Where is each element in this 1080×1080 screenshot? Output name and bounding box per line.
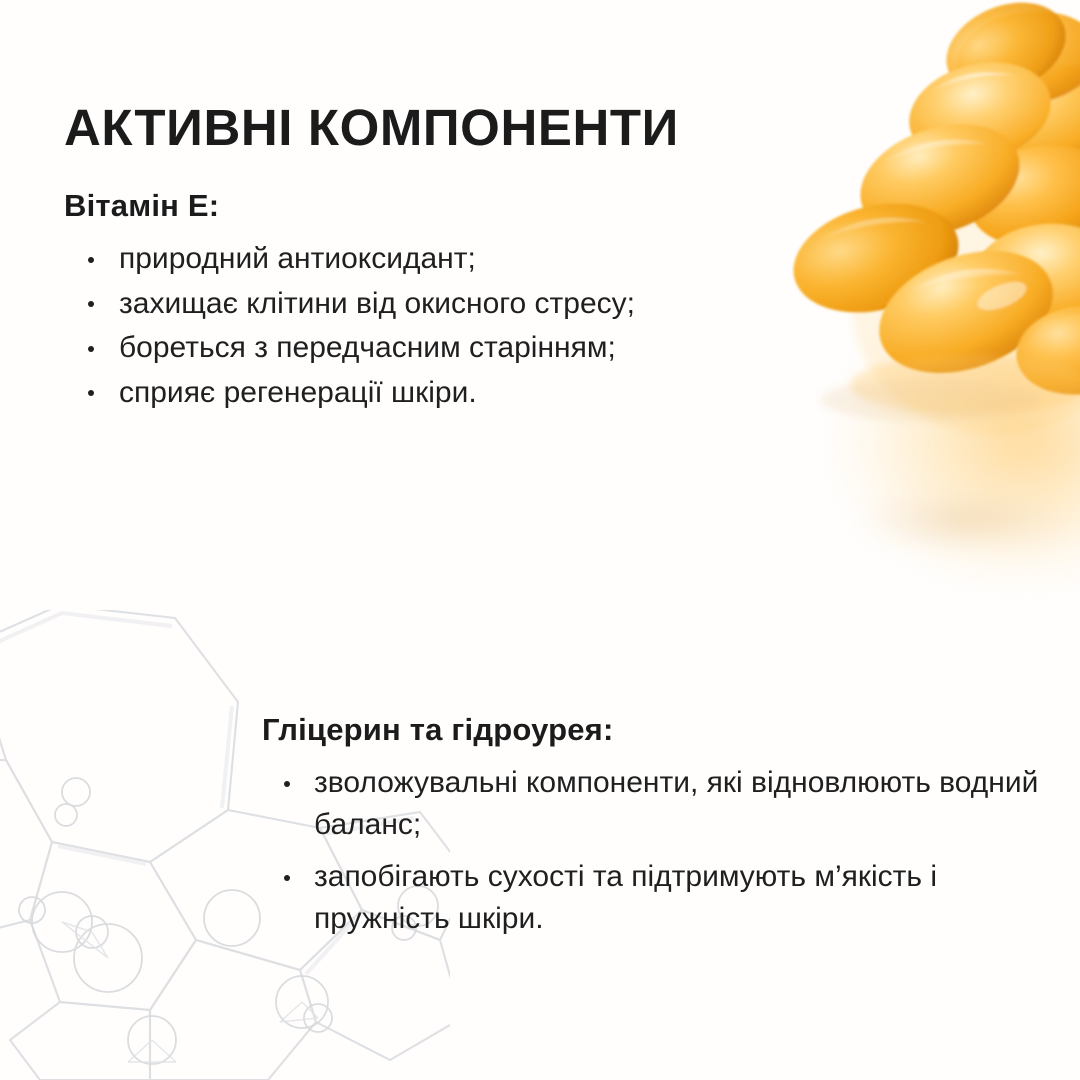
list-item: сприяє регенерації шкіри.	[64, 372, 894, 415]
list-item-label: сприяє регенерації шкіри.	[119, 376, 477, 409]
list-item: бореться з передчасним старінням;	[64, 327, 894, 370]
list-item: зволожувальні компоненти, які відновлюют…	[262, 762, 1052, 846]
slide-root: АКТИВНІ КОМПОНЕНТИ Вітамін Е: природний …	[0, 0, 1080, 1080]
bullet-list-glycerin-hydrourea: зволожувальні компоненти, які відновлюют…	[262, 762, 1052, 940]
bullet-dot-icon	[88, 346, 94, 352]
capsule-shadow	[780, 470, 1080, 590]
section-heading-glycerin-hydrourea: Гліцерин та гідроурея:	[262, 712, 1052, 748]
bullet-dot-icon	[88, 301, 94, 307]
list-item: природний антиоксидант;	[64, 238, 894, 281]
list-item: захищає клітини від окисного стресу;	[64, 283, 894, 326]
bullet-dot-icon	[88, 390, 94, 396]
section-heading-vitamin-e: Вітамін Е:	[64, 188, 894, 224]
bullet-list-vitamin-e: природний антиоксидант; захищає клітини …	[64, 238, 894, 414]
bullet-dot-icon	[88, 257, 94, 263]
section-glycerin-hydrourea: Гліцерин та гідроурея: зволожувальні ком…	[262, 712, 1052, 950]
list-item-label: захищає клітини від окисного стресу;	[119, 287, 635, 320]
list-item-label: запобігають сухості та підтримують м’які…	[314, 860, 937, 935]
bullet-dot-icon	[284, 781, 290, 787]
page-title: АКТИВНІ КОМПОНЕНТИ	[64, 98, 679, 157]
list-item-label: зволожувальні компоненти, які відновлюют…	[314, 766, 1038, 841]
list-item-label: бореться з передчасним старінням;	[119, 331, 616, 364]
section-vitamin-e: Вітамін Е: природний антиоксидант; захищ…	[64, 188, 894, 416]
list-item-label: природний антиоксидант;	[119, 242, 476, 275]
list-item: запобігають сухості та підтримують м’які…	[262, 856, 1052, 940]
bullet-dot-icon	[284, 875, 290, 881]
